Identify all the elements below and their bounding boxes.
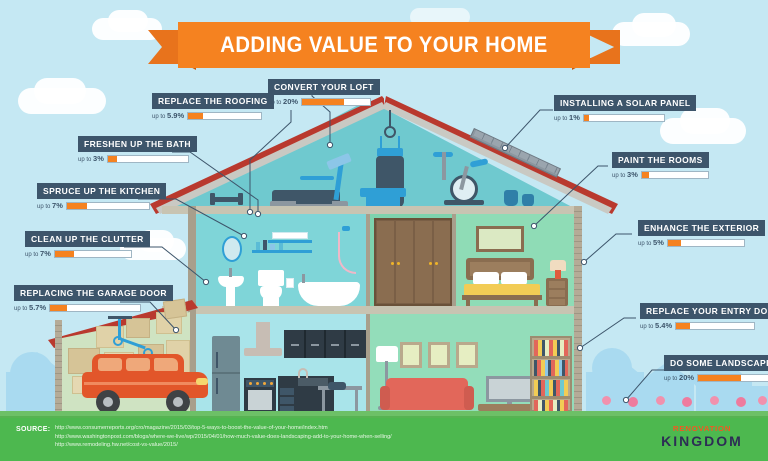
scooter-stem	[118, 318, 121, 340]
shower-head	[342, 226, 350, 231]
wall-closet-bed	[452, 214, 456, 308]
garage-wall-left	[55, 320, 62, 412]
car-headlight	[196, 378, 208, 385]
toilet-base	[263, 298, 279, 306]
bookshelf-shelf-2	[532, 376, 570, 379]
sink-tap	[229, 268, 232, 277]
nightstand-drawer-3	[549, 299, 565, 305]
kitchen-table-leg-l	[322, 390, 325, 412]
callout-convert-your-loft[interactable]: CONVERT YOUR LOFT up to 20%	[268, 77, 380, 106]
bathroom-mirror	[222, 236, 242, 262]
flower-3	[656, 396, 665, 405]
floor-lamp-shade	[376, 346, 398, 362]
lamp-base	[555, 270, 561, 279]
kitchen-faucet	[298, 368, 308, 378]
bedroom-wall-picture	[476, 226, 524, 252]
wall-kitchen-living	[366, 314, 370, 412]
scooter-handlebar	[108, 316, 132, 319]
cabinet-handle-2	[311, 344, 319, 346]
callout-clean-up-the-clutter[interactable]: CLEAN UP THE CLUTTER up to 7%	[25, 229, 150, 258]
callout-meter: up to 20%	[268, 97, 380, 106]
sink-pedestal	[226, 286, 235, 306]
source-link-3[interactable]: http://www.remodeling.hw.net/cost-vs-val…	[55, 441, 392, 450]
callout-percent: up to 20%	[268, 97, 298, 106]
callout-label: REPLACING THE GARAGE DOOR	[14, 285, 173, 301]
callout-percent: up to 5%	[638, 238, 664, 247]
tv-screen	[486, 376, 534, 402]
callout-meter: up to 1%	[554, 113, 696, 122]
callout-meter: up to 3%	[612, 170, 709, 179]
callout-percent: up to 3%	[612, 170, 638, 179]
oven-knob-4	[270, 382, 273, 385]
sofa-arm-left	[380, 386, 390, 410]
callout-meter: up to 20%	[664, 373, 768, 382]
cabinet-divider-2	[324, 330, 326, 358]
callout-freshen-up-the-bath[interactable]: FRESHEN UP THE BATH up to 3%	[78, 134, 197, 163]
bathtub-tap	[302, 274, 305, 283]
exercise-bike-base	[444, 200, 484, 205]
callout-meter: up to 3%	[78, 154, 197, 163]
callout-replace-your-entry-door[interactable]: REPLACE YOUR ENTRY DOOR up to 5.4%	[640, 301, 768, 330]
callout-bar-fill	[50, 305, 67, 311]
bathroom-shelf-upper	[268, 240, 312, 243]
callout-percent: up to 3%	[78, 154, 104, 163]
callout-bar	[583, 114, 665, 122]
flower-4	[682, 397, 692, 407]
bathroom-shelf-lower	[252, 250, 312, 253]
cabinet-divider-3	[344, 330, 346, 358]
storage-box-2	[126, 318, 150, 338]
callout-bar-fill	[67, 203, 88, 209]
kettlebell-a	[504, 190, 518, 206]
callout-bar	[187, 112, 262, 120]
callout-meter: up to 7%	[25, 249, 150, 258]
bench-press-leg	[366, 196, 400, 206]
flower-5	[710, 396, 719, 405]
callout-replace-the-roofing[interactable]: REPLACE THE ROOFING up to 5.9%	[152, 91, 274, 120]
wardrobe-knob-3	[429, 262, 432, 265]
car-hubcap-rear	[173, 397, 183, 407]
bathroom-bottle-c	[270, 244, 275, 250]
oven-knob-1	[249, 382, 252, 385]
source-link-2[interactable]: http://www.washingtonpost.com/blogs/wher…	[55, 433, 392, 442]
car-hubcap-front	[103, 397, 113, 407]
callout-percent: up to 7%	[37, 201, 63, 210]
bathtub	[298, 282, 360, 306]
callout-bar	[675, 322, 755, 330]
cabinet-handle-4	[351, 344, 359, 346]
callout-label: INSTALLING A SOLAR PANEL	[554, 95, 696, 111]
kitchen-drawer-1	[280, 388, 294, 395]
callout-bar-fill	[188, 113, 203, 119]
floor-slab-attic	[162, 206, 574, 214]
barbell	[296, 200, 332, 204]
wall-frame-2	[428, 342, 450, 368]
refrigerator	[212, 336, 240, 412]
source-label: SOURCE:	[16, 426, 50, 433]
callout-bar	[107, 155, 189, 163]
callout-label: REPLACE THE ROOFING	[152, 93, 274, 109]
nightstand-drawer-1	[549, 281, 565, 288]
bathroom-bottle-a	[256, 242, 260, 250]
bathroom-towels	[272, 232, 308, 239]
callout-installing-a-solar-panel[interactable]: INSTALLING A SOLAR PANEL up to 1%	[554, 93, 696, 122]
oven-window	[248, 390, 272, 410]
range-hood	[256, 322, 270, 350]
callout-meter: up to 5.9%	[152, 111, 274, 120]
cabinet-divider-1	[304, 330, 306, 358]
callout-bar-fill	[302, 99, 344, 105]
renovation-kingdom-logo[interactable]: RENOVATION KINGDOM	[648, 424, 756, 456]
books-row-2	[534, 360, 568, 376]
sofa-arm-right	[464, 386, 474, 410]
treadmill-handle	[300, 176, 334, 180]
callout-bar-fill	[676, 323, 690, 329]
flower-6	[736, 397, 746, 407]
flower-1	[602, 396, 611, 405]
wall-bath-closet	[366, 214, 370, 308]
callout-bar-fill	[55, 251, 74, 257]
callout-bar	[641, 171, 709, 179]
bathroom-bottle-b	[263, 240, 267, 250]
callout-label: ENHANCE THE EXTERIOR	[638, 220, 765, 236]
callout-bar	[54, 250, 132, 258]
bookshelf-shelf-3	[532, 396, 570, 399]
floor-slab-middle	[162, 306, 574, 314]
callout-enhance-the-exterior[interactable]: ENHANCE THE EXTERIOR up to 5%	[638, 218, 765, 247]
refrigerator-handle-upper	[216, 352, 218, 368]
callout-bar	[301, 98, 371, 106]
logo-line-kingdom: KINGDOM	[648, 434, 756, 448]
car-stripe	[84, 382, 206, 385]
exercise-bike-post	[442, 152, 446, 180]
kitchen-drawer-2	[280, 397, 294, 404]
nightstand-drawer-2	[549, 290, 565, 297]
callout-label: REPLACE YOUR ENTRY DOOR	[640, 303, 768, 319]
callout-percent: up to 5.9%	[152, 111, 184, 120]
callout-bar-fill	[584, 115, 589, 121]
car-window-1	[98, 358, 122, 371]
callout-bar-fill	[108, 156, 117, 162]
cabinet-handle-1	[291, 344, 299, 346]
wardrobe-knob-2	[397, 262, 400, 265]
wardrobe-knob-4	[435, 262, 438, 265]
infographic-canvas: ADDING VALUE TO YOUR HOME	[0, 0, 768, 461]
callout-meter: up to 7%	[37, 201, 166, 210]
callout-percent: up to 7%	[25, 249, 51, 258]
wardrobe-knob-1	[391, 262, 394, 265]
toilet-roll	[286, 278, 294, 288]
callout-label: CONVERT YOUR LOFT	[268, 79, 380, 95]
kitchen-stool	[328, 382, 346, 390]
callout-percent: up to 20%	[664, 373, 694, 382]
callout-do-some-landscaping[interactable]: DO SOME LANDSCAPING up to 20%	[664, 353, 768, 382]
callout-replacing-the-garage-door[interactable]: REPLACING THE GARAGE DOOR up to 5.7%	[14, 283, 173, 312]
bed-frame	[462, 295, 542, 300]
callout-meter: up to 5.4%	[640, 321, 768, 330]
callout-label: SPRUCE UP THE KITCHEN	[37, 183, 166, 199]
callout-label: CLEAN UP THE CLUTTER	[25, 231, 150, 247]
callout-bar	[697, 374, 768, 382]
callout-percent: up to 1%	[554, 113, 580, 122]
books-row-1	[534, 340, 568, 356]
oven-knob-2	[256, 382, 259, 385]
callout-percent: up to 5.4%	[640, 321, 672, 330]
callout-paint-the-rooms[interactable]: PAINT THE ROOMS up to 3%	[612, 150, 709, 179]
refrigerator-divider	[212, 372, 240, 374]
callout-percent: up to 5.7%	[14, 303, 46, 312]
bathroom-bottle-d	[279, 243, 283, 250]
oven-knob-3	[263, 382, 266, 385]
dumbbell-left-plate-a	[210, 193, 215, 205]
callout-bar-fill	[698, 375, 741, 381]
callout-meter: up to 5%	[638, 238, 765, 247]
callout-bar	[49, 304, 141, 312]
flower-7	[758, 396, 767, 405]
books-row-4	[534, 400, 568, 411]
flower-2	[628, 397, 638, 407]
sofa-seat	[382, 392, 472, 410]
books-row-3	[534, 380, 568, 396]
callout-meter: up to 5.7%	[14, 303, 173, 312]
toilet-tank	[258, 270, 284, 286]
callout-spruce-up-the-kitchen[interactable]: SPRUCE UP THE KITCHEN up to 7%	[37, 181, 166, 210]
callout-label: PAINT THE ROOMS	[612, 152, 709, 168]
dumbbell-left	[212, 197, 240, 202]
kitchen-table-leg-r	[355, 390, 358, 412]
source-link-1[interactable]: http://www.consumerreports.org/cro/magaz…	[55, 424, 392, 433]
kitchen-sink	[298, 378, 328, 386]
wall-brick-texture-right	[574, 206, 582, 412]
range-hood-canopy	[244, 348, 282, 356]
refrigerator-handle-lower	[216, 378, 218, 394]
dumbbell-left-plate-b	[238, 193, 243, 205]
cabinet-handle-3	[331, 344, 339, 346]
car-window-3	[154, 358, 178, 371]
house-cutaway-illustration	[0, 0, 768, 420]
car-window-2	[126, 358, 150, 371]
wall-frame-3	[456, 342, 478, 368]
bookshelf-shelf-1	[532, 356, 570, 359]
callout-label: FRESHEN UP THE BATH	[78, 136, 197, 152]
wall-frame-1	[400, 342, 422, 368]
logo-line-renovation: RENOVATION	[648, 424, 756, 434]
callout-label: DO SOME LANDSCAPING	[664, 355, 768, 371]
callout-bar	[66, 202, 150, 210]
callout-bar-fill	[668, 240, 681, 246]
callout-bar-fill	[642, 172, 649, 178]
source-list: http://www.consumerreports.org/cro/magaz…	[55, 424, 392, 450]
callout-bar	[667, 239, 745, 247]
